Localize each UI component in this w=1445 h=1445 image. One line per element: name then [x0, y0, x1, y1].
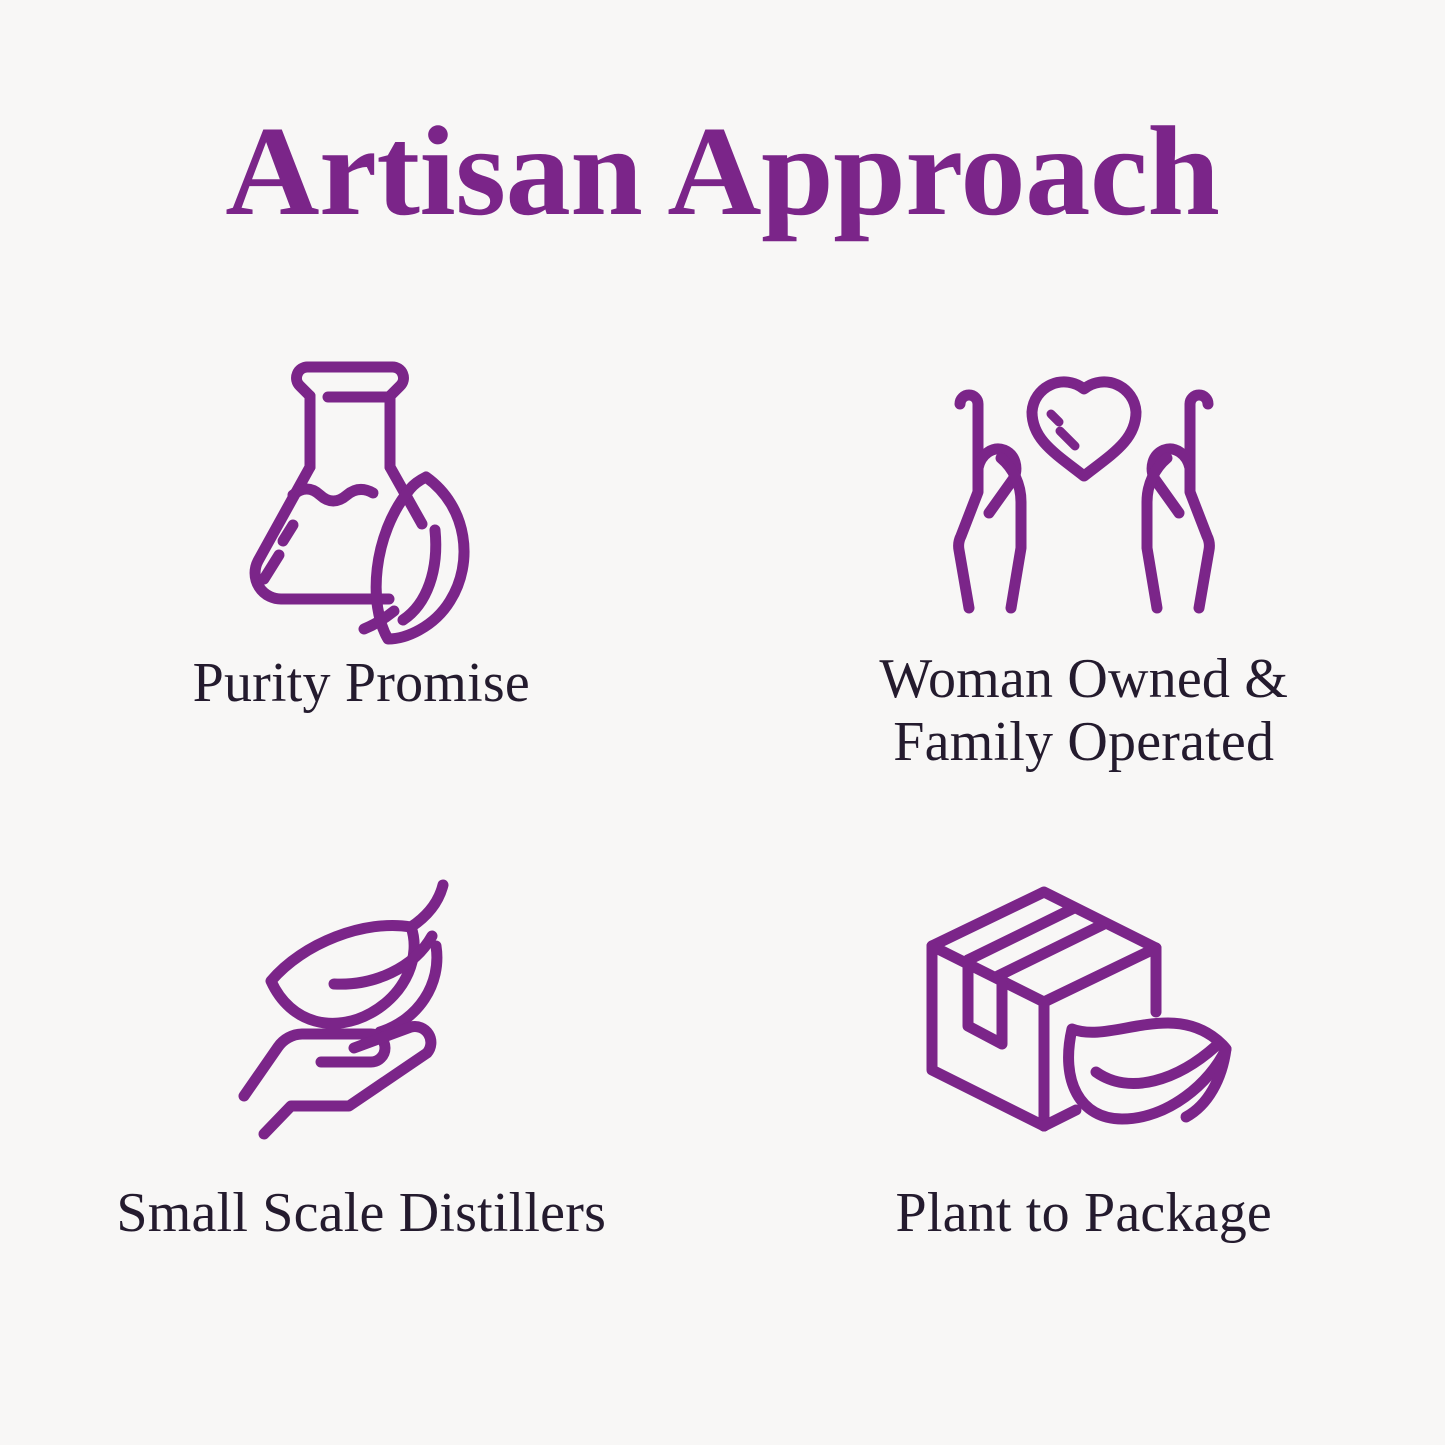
feature-grid: Purity Promise — [0, 336, 1445, 1376]
feature-label: Purity Promise — [193, 652, 530, 715]
feature-label: Woman Owned & Family Operated — [879, 648, 1288, 773]
feature-item-woman-owned: Woman Owned & Family Operated — [723, 336, 1445, 856]
flask-leaf-icon — [211, 344, 511, 634]
leaf-in-hand-icon — [211, 874, 511, 1144]
artisan-approach-graphic: Artisan Approach — [0, 0, 1445, 1445]
feature-item-purity-promise: Purity Promise — [0, 336, 723, 856]
page-title-container: Artisan Approach — [0, 104, 1445, 238]
hands-holding-heart-icon — [934, 344, 1234, 634]
feature-item-plant-to-package: Plant to Package — [723, 856, 1445, 1376]
feature-label: Plant to Package — [896, 1182, 1272, 1245]
feature-item-small-scale: Small Scale Distillers — [0, 856, 723, 1376]
feature-label: Small Scale Distillers — [116, 1182, 606, 1245]
box-with-leaf-icon — [934, 874, 1234, 1144]
page-title: Artisan Approach — [225, 104, 1219, 238]
